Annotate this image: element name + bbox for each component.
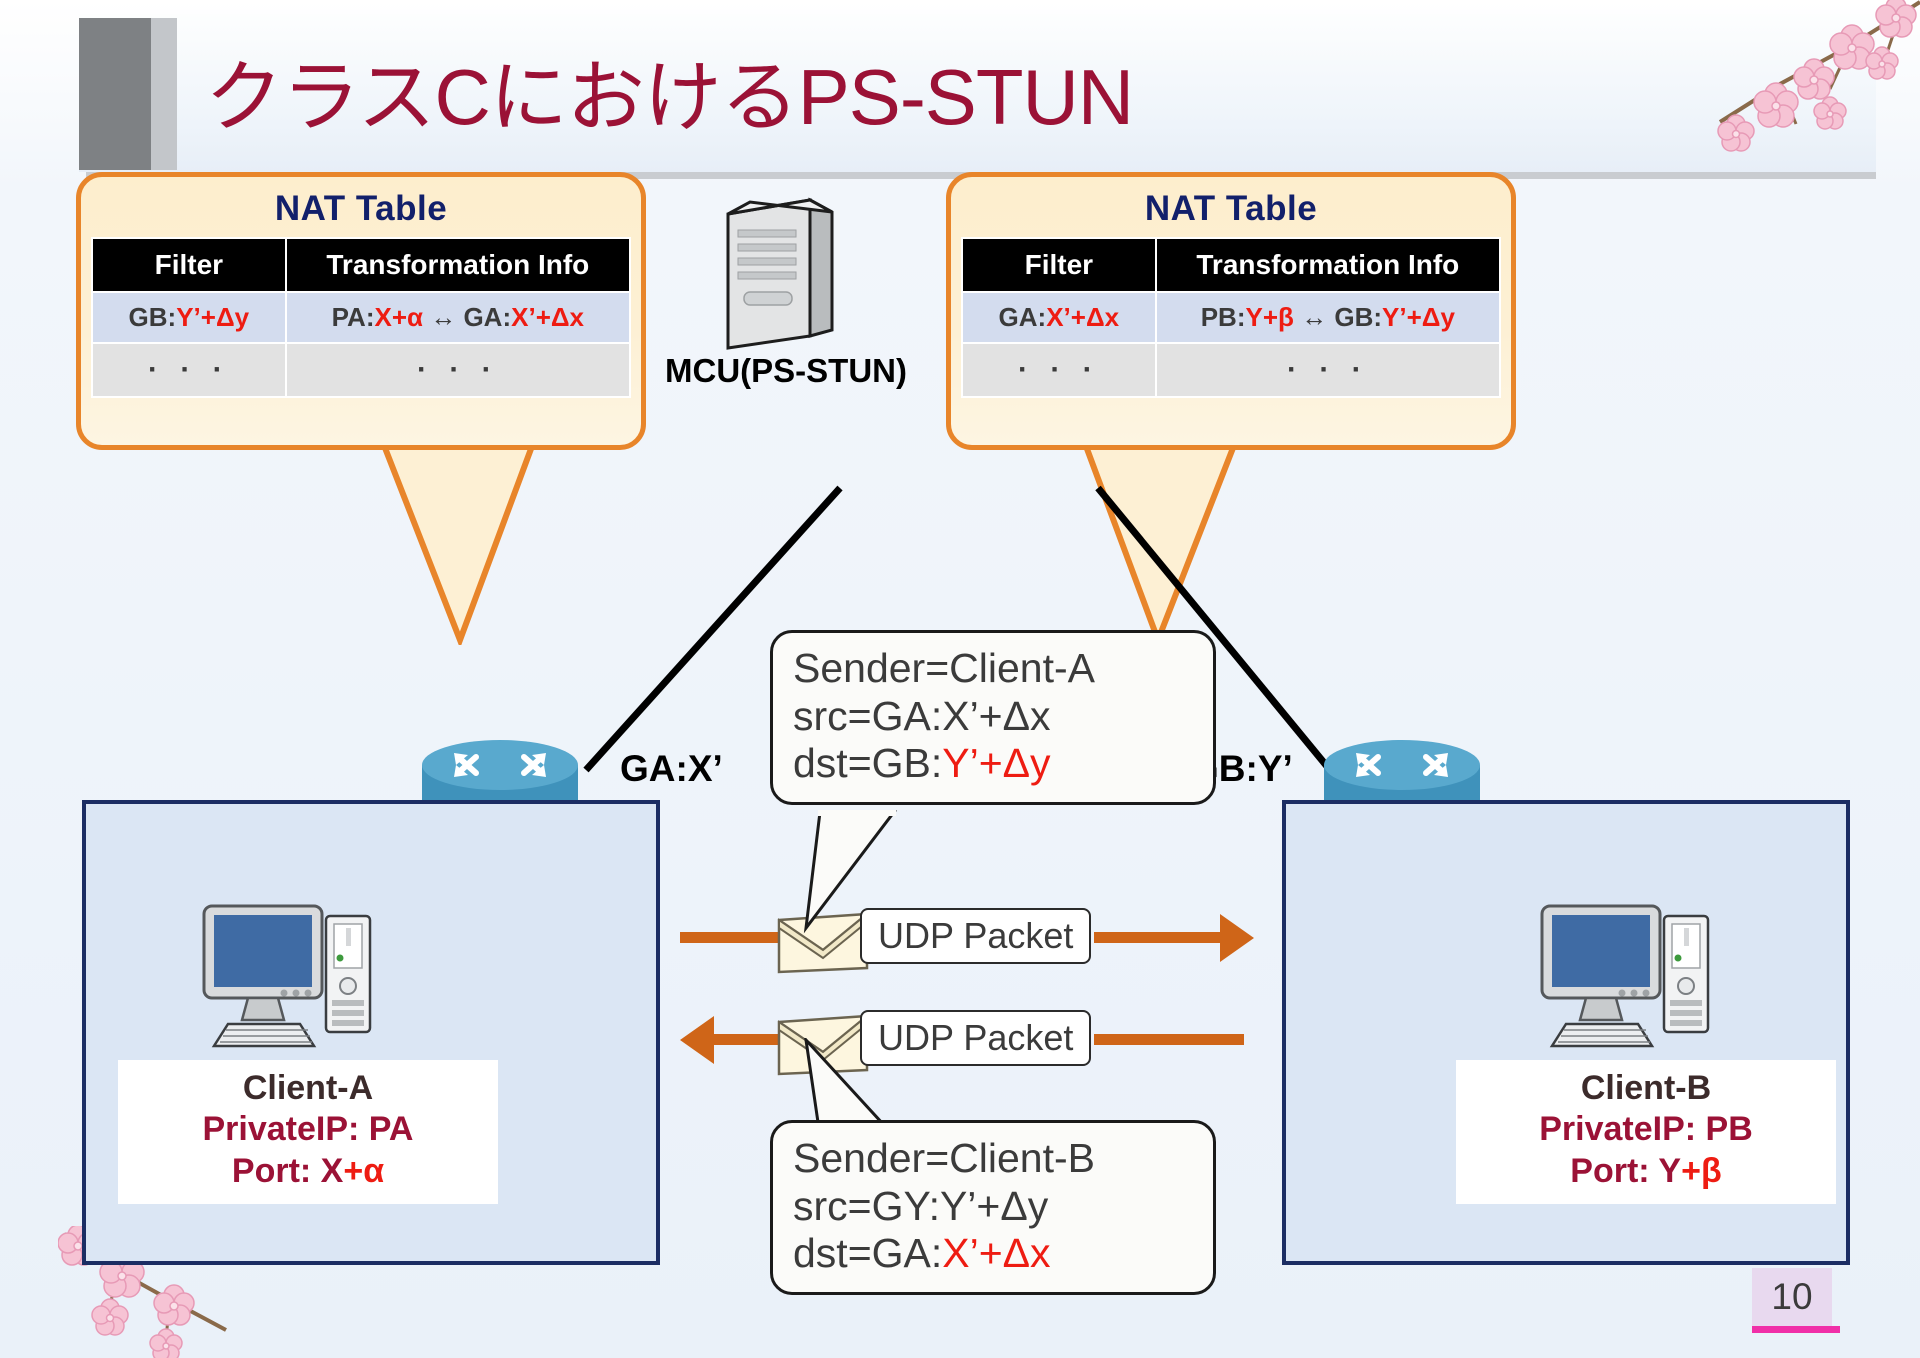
page-number-rule <box>1752 1326 1840 1333</box>
table-row: GB:Y’+Δy PA:X+α ↔ GA:X’+Δx <box>92 292 630 343</box>
nat-table-left: NAT Table Filter Transformation Info GB:… <box>76 172 646 450</box>
computer-icon-left <box>196 900 386 1075</box>
bubble-top-line2: src=GA:X’+Δx <box>793 693 1193 741</box>
client-right-privateip: PrivateIP: PB <box>1456 1109 1836 1150</box>
nat-left-transform-v2: X’+Δx <box>511 302 584 332</box>
nat-right-filter-value: X’+Δx <box>1046 302 1119 332</box>
udp-arrow-line-out-right <box>1094 932 1224 943</box>
nat-right-transform-p1: PB: <box>1201 302 1246 332</box>
nat-table-right-grid: Filter Transformation Info GA:X’+Δx PB:Y… <box>961 237 1501 398</box>
nat-left-filter-value: Y’+Δy <box>176 302 249 332</box>
nat-left-header-filter: Filter <box>92 238 286 292</box>
udp-arrowhead-right <box>1220 914 1254 962</box>
page-number-badge: 10 <box>1752 1268 1832 1326</box>
udp-arrow-line-back-right <box>1094 1034 1244 1045</box>
bubble-top-line3: dst=GB:Y’+Δy <box>793 740 1193 788</box>
bubble-bottom-line1: Sender=Client-B <box>793 1135 1193 1183</box>
nat-right-transform-cell: PB:Y+β ↔ GB:Y’+Δy <box>1156 292 1500 343</box>
nat-left-ellipsis-2: · · · <box>286 343 630 397</box>
page-title: クラスCにおけるPS-STUN <box>205 36 1505 146</box>
nat-right-transform-v1: Y+β <box>1246 302 1294 332</box>
bubble-top-line1: Sender=Client-A <box>793 645 1193 693</box>
client-left-port-delta: +α <box>343 1152 384 1190</box>
nat-right-ellipsis-2: · · · <box>1156 343 1500 397</box>
nat-right-transform-p2: GB: <box>1334 302 1382 332</box>
client-right-port: Port: Y+β <box>1456 1151 1836 1192</box>
mcu-label: MCU(PS-STUN) <box>636 352 936 390</box>
router-left-label: GA:X’ <box>620 748 723 790</box>
nat-left-transform-mid: ↔ <box>423 302 463 332</box>
client-left-name: Client-A <box>118 1068 498 1109</box>
nat-left-transform-v1: X+α <box>374 302 423 332</box>
server-icon <box>710 190 850 350</box>
client-left-privateip: PrivateIP: PA <box>118 1109 498 1150</box>
bubble-top-tail <box>790 810 930 940</box>
client-right-name: Client-B <box>1456 1068 1836 1109</box>
nat-table-left-grid: Filter Transformation Info GB:Y’+Δy PA:X… <box>91 237 631 398</box>
nat-left-callout-tail <box>368 430 548 645</box>
nat-table-right-title: NAT Table <box>951 189 1511 229</box>
nat-right-filter-cell: GA:X’+Δx <box>962 292 1156 343</box>
client-right-port-label: Port: Y <box>1570 1152 1681 1190</box>
table-row: · · · · · · <box>92 343 630 397</box>
slide-canvas: クラスCにおけるPS-STUN <box>0 0 1920 1358</box>
nat-table-right: NAT Table Filter Transformation Info GA:… <box>946 172 1516 450</box>
nat-right-transform-mid: ↔ <box>1294 302 1334 332</box>
nat-left-header-transform: Transformation Info <box>286 238 630 292</box>
packet-bubble-top: Sender=Client-A src=GA:X’+Δx dst=GB:Y’+Δ… <box>770 630 1216 805</box>
udp-arrowhead-left <box>680 1016 714 1064</box>
bubble-bottom-line3: dst=GA:X’+Δx <box>793 1230 1193 1278</box>
nat-left-ellipsis-1: · · · <box>92 343 286 397</box>
bubble-top-line3-prefix: dst=GB: <box>793 740 942 786</box>
client-left-port-label: Port: X <box>232 1152 343 1190</box>
bubble-top-line3-value: Y’+Δy <box>942 740 1050 786</box>
bubble-bottom-line2: src=GY:Y’+Δy <box>793 1183 1193 1231</box>
bubble-bottom-line3-prefix: dst=GA: <box>793 1230 942 1276</box>
table-row: · · · · · · <box>962 343 1500 397</box>
client-info-right: Client-B PrivateIP: PB Port: Y+β <box>1456 1060 1836 1204</box>
nat-right-header-transform: Transformation Info <box>1156 238 1500 292</box>
packet-bubble-bottom: Sender=Client-B src=GY:Y’+Δy dst=GA:X’+Δ… <box>770 1120 1216 1295</box>
bubble-bottom-line3-value: X’+Δx <box>942 1230 1050 1276</box>
title-tab-light <box>151 18 177 170</box>
nat-left-transform-p2: GA: <box>463 302 511 332</box>
nat-right-ellipsis-1: · · · <box>962 343 1156 397</box>
client-left-port: Port: X+α <box>118 1151 498 1192</box>
title-tab-dark <box>79 18 151 170</box>
client-info-left: Client-A PrivateIP: PA Port: X+α <box>118 1060 498 1204</box>
nat-left-transform-cell: PA:X+α ↔ GA:X’+Δx <box>286 292 630 343</box>
nat-right-callout-tail <box>1070 430 1250 645</box>
nat-left-filter-prefix: GB: <box>129 302 177 332</box>
nat-table-left-title: NAT Table <box>81 189 641 229</box>
table-row: GA:X’+Δx PB:Y+β ↔ GB:Y’+Δy <box>962 292 1500 343</box>
computer-icon-right <box>1534 900 1724 1075</box>
nat-left-transform-p1: PA: <box>332 302 375 332</box>
nat-left-filter-cell: GB:Y’+Δy <box>92 292 286 343</box>
nat-right-header-filter: Filter <box>962 238 1156 292</box>
client-right-port-delta: +β <box>1681 1152 1722 1190</box>
nat-right-transform-v2: Y’+Δy <box>1382 302 1455 332</box>
nat-right-filter-prefix: GA: <box>999 302 1047 332</box>
